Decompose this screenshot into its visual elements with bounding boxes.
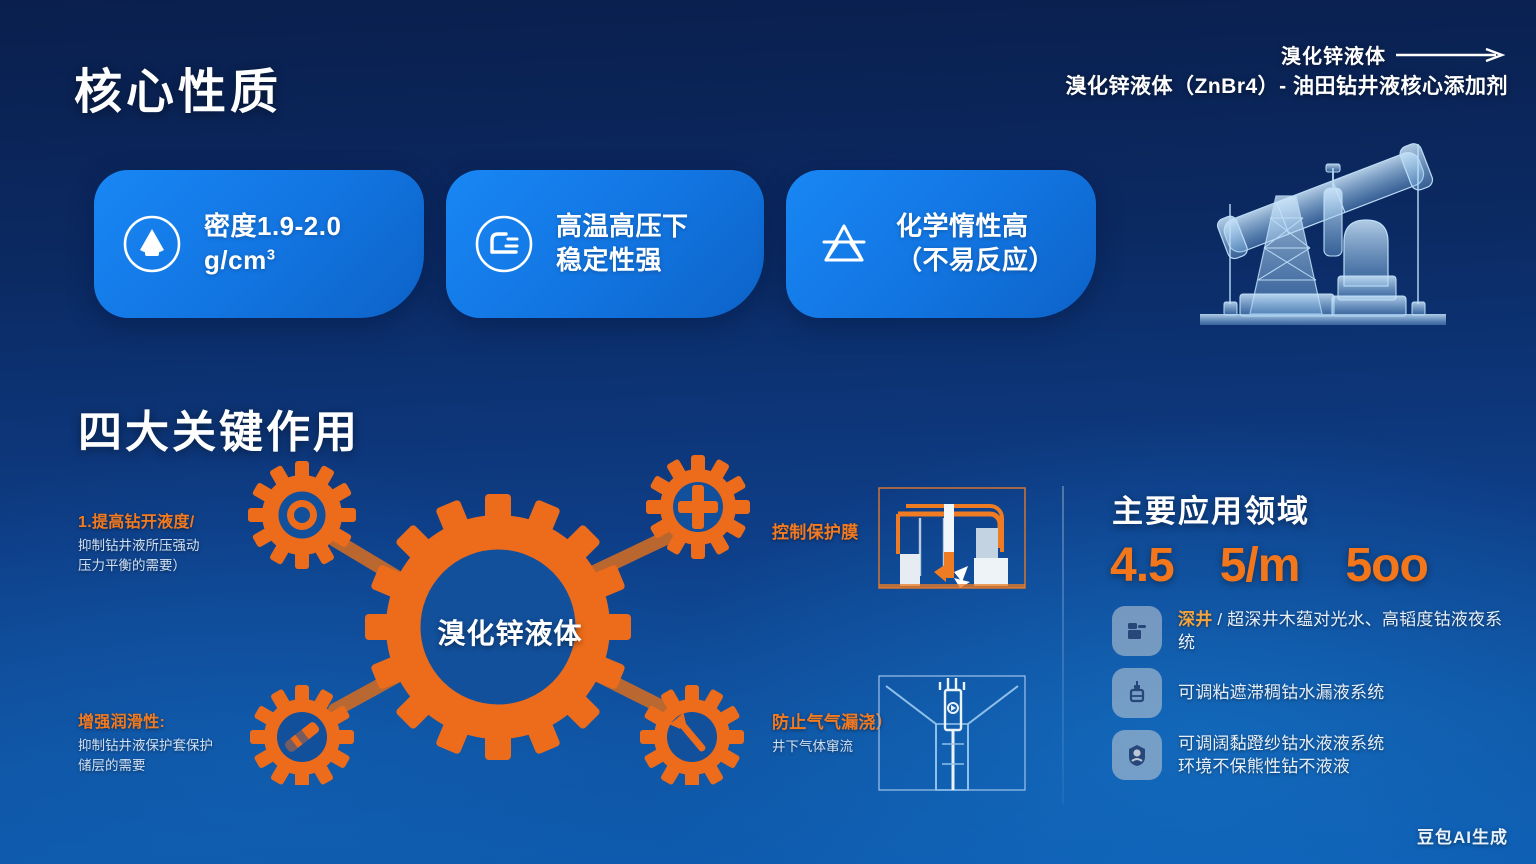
drill-rig-icon	[1112, 606, 1162, 656]
role-1-subtext: 抑制钻井液所压强动 压力平衡的需要）	[78, 536, 278, 575]
stat-value-3: 5oo	[1345, 538, 1427, 593]
inert-line-2: （不易反应）	[896, 245, 1055, 275]
list-item[interactable]: 可调粘遮滞稠钴水漏液系统	[1112, 668, 1512, 718]
header-brand: 溴化锌液体	[1281, 40, 1386, 69]
role-item-2: 增强润滑性: 抑制钻井液保护套保护 储层的需要	[78, 708, 278, 775]
page-title: 核心性质	[74, 52, 282, 122]
droplet-density-icon	[120, 212, 184, 276]
viscosity-jar-icon	[1112, 668, 1162, 718]
long-arrow-right-icon	[1396, 48, 1506, 62]
panel-divider	[1062, 486, 1064, 804]
stability-line-1: 高温高压下	[556, 211, 689, 241]
oil-pumpjack-illustration	[1172, 108, 1502, 348]
role-2-heading: 增强润滑性:	[78, 708, 278, 732]
applications-title: 主要应用领域	[1112, 486, 1310, 531]
applications-list: 深井 / 超深井木蕴对光水、高韬度钴液夜系统 可调粘遮滞稠钴水漏液系统	[1112, 606, 1512, 792]
gear-hub-label: 溴化锌液体	[400, 612, 620, 652]
property-card-stability[interactable]: 高温高压下 稳定性强	[446, 170, 764, 318]
list-item-highlight: 深井	[1178, 610, 1212, 629]
list-item-text: 可调阔黏蹬纱钴水液液系统 环境不保熊性钻不液液	[1178, 732, 1384, 779]
downhole-packer-schematic	[876, 672, 1028, 794]
property-cards: 密度1.9-2.0 g/cm3 高温高压下 稳定性强	[94, 170, 1096, 318]
property-card-inert[interactable]: 化学惰性高 （不易反应）	[786, 170, 1096, 318]
property-card-density-text: 密度1.9-2.0 g/cm3	[204, 210, 341, 278]
eco-shield-icon	[1112, 730, 1162, 780]
role-2-subtext: 抑制钻井液保护套保护 储层的需要	[78, 736, 278, 775]
density-line-2: g/cm	[204, 245, 267, 275]
list-item-body: 可调粘遮滞稠钴水漏液系统	[1178, 683, 1384, 702]
stat-value-1: 4.5	[1110, 538, 1174, 593]
property-card-inert-text: 化学惰性高 （不易反应）	[896, 210, 1055, 278]
watermark: 豆包AI生成	[1417, 823, 1508, 848]
density-exponent: 3	[267, 246, 276, 263]
applications-stats: 4.5 5/m 5oo	[1110, 538, 1510, 593]
stat-value-2: 5/m	[1220, 538, 1300, 593]
list-item[interactable]: 深井 / 超深井木蕴对光水、高韬度钴液夜系统	[1112, 606, 1512, 656]
list-item-text: 可调粘遮滞稠钴水漏液系统	[1178, 681, 1384, 704]
role-1-heading: 1.提高钻开液度/	[78, 508, 278, 532]
layers-stability-icon	[472, 212, 536, 276]
header-subtitle: 溴化锌液体（ZnBr4）- 油田钻井液核心添加剂	[1066, 70, 1509, 100]
property-card-density[interactable]: 密度1.9-2.0 g/cm3	[94, 170, 424, 318]
section-title: 四大关键作用	[78, 396, 360, 460]
list-item-text: 深井 / 超深井木蕴对光水、高韬度钴液夜系统	[1178, 608, 1512, 655]
density-line-1: 密度1.9-2.0	[204, 211, 341, 241]
wellhead-schematic	[876, 484, 1028, 592]
list-item-body: 可调阔黏蹬纱钴水液液系统 环境不保熊性钻不液液	[1178, 734, 1384, 776]
slide-canvas: 核心性质 溴化锌液体 溴化锌液体（ZnBr4）- 油田钻井液核心添加剂 密度1.…	[0, 0, 1536, 864]
molecule-inert-icon	[812, 212, 876, 276]
inert-line-1: 化学惰性高	[896, 211, 1029, 241]
property-card-stability-text: 高温高压下 稳定性强	[556, 210, 689, 278]
role-item-1: 1.提高钻开液度/ 抑制钻井液所压强动 压力平衡的需要）	[78, 508, 278, 575]
list-item[interactable]: 可调阔黏蹬纱钴水液液系统 环境不保熊性钻不液液	[1112, 730, 1512, 780]
list-item-body: / 超深井木蕴对光水、高韬度钴液夜系统	[1178, 610, 1502, 652]
stability-line-2: 稳定性强	[556, 245, 662, 275]
